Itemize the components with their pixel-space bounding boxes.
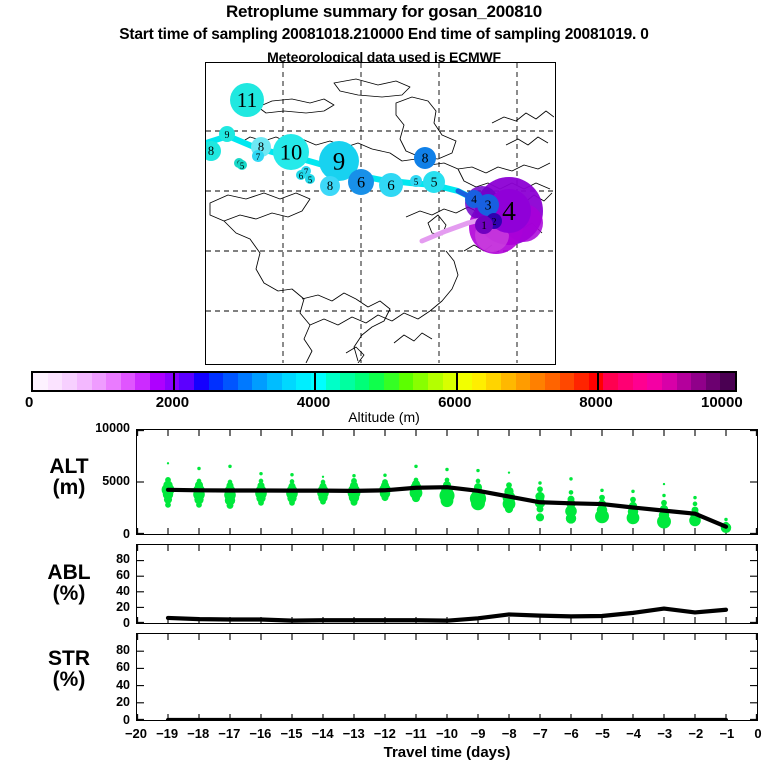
y-axis-tick: 20 [66,600,130,614]
map-day-marker-label: 5 [414,177,419,187]
x-axis-tick: −11 [399,726,433,741]
colorbar-swatch [33,373,48,390]
x-axis-tick: −6 [554,726,588,741]
colorbar-swatch [77,373,92,390]
colorbar-swatch [472,373,487,390]
x-axis-tick: −18 [181,726,215,741]
map-day-marker[interactable]: 5 [410,175,422,187]
colorbar-swatch [282,373,297,390]
axis-ticks [138,545,757,623]
retroplume-map[interactable]: 1110998888776666555544321 [205,62,556,365]
x-axis-tick: −3 [648,726,682,741]
colorbar-swatch [355,373,370,390]
map-day-marker[interactable]: 1 [475,216,493,234]
colorbar-swatch [326,373,341,390]
x-axis-tick: −1 [710,726,744,741]
x-axis-tick: 0 [741,726,768,741]
map-day-marker-label: 6 [387,178,395,194]
y-axis-tick: 80 [66,643,130,657]
map-day-marker[interactable]: 5 [423,171,445,193]
colorbar-swatch [121,373,136,390]
map-day-marker-label: 10 [280,140,303,165]
map-day-marker[interactable]: 9 [219,126,235,142]
map-day-marker-label: 8 [208,144,214,158]
colorbar-swatch [501,373,516,390]
map-day-marker[interactable]: 6 [296,170,306,181]
abl-line [168,609,726,621]
map-day-marker[interactable]: 6 [348,169,374,195]
altitude-colorbar[interactable] [31,371,737,392]
colorbar-swatch [238,373,253,390]
y-axis-tick: 0 [66,616,130,630]
colorbar-swatch [457,373,472,390]
abl-plot [137,545,757,623]
colorbar-swatch [135,373,150,390]
map-day-marker-label: 6 [357,173,365,191]
colorbar-swatch [530,373,545,390]
map-day-marker[interactable]: 7 [252,150,264,162]
map-canvas: 1110998888776666555544321 [206,63,554,363]
sampling-time-line: Start time of sampling 20081018.210000 E… [0,26,768,44]
y-axis-tick: 10000 [66,421,130,435]
colorbar-swatch [223,373,238,390]
colorbar-swatch [179,373,194,390]
y-axis-tick: 80 [66,552,130,566]
x-axis-tick: −2 [679,726,713,741]
map-day-marker-label: 6 [299,171,304,181]
alt-panel[interactable] [136,429,758,535]
map-day-marker[interactable]: 11 [230,83,264,117]
x-axis-tick: −19 [150,726,184,741]
y-axis-ticks [137,651,757,719]
colorbar-divider [314,373,316,390]
map-day-marker[interactable]: 6 [379,173,403,197]
colorbar-swatch [150,373,165,390]
y-axis-tick: 5000 [66,474,130,488]
map-day-marker-label: 9 [225,130,230,141]
colorbar-swatch [545,373,560,390]
colorbar-swatch [486,373,501,390]
map-day-marker-label: 5 [431,175,438,190]
alt-scatter [162,462,732,533]
map-day-marker-label: 5 [240,161,245,171]
colorbar-swatch [194,373,209,390]
map-day-marker-label: 7 [256,152,261,162]
colorbar-swatch [296,373,311,390]
y-axis-tick: 40 [66,678,130,692]
map-day-marker-label: 3 [485,198,492,213]
colorbar-swatch [428,373,443,390]
colorbar-swatch [399,373,414,390]
colorbar-swatch [706,373,721,390]
map-day-marker[interactable]: 8 [414,147,436,169]
x-axis-tick: −20 [119,726,153,741]
y-axis-tick: 60 [66,660,130,674]
map-day-marker[interactable]: 5 [305,174,315,185]
x-axis-tick: −9 [461,726,495,741]
map-day-marker-label: 4 [502,195,516,226]
alt-plot [137,430,757,534]
x-axis-tick: −12 [368,726,402,741]
page-title: Retroplume summary for gosan_200810 [0,2,768,22]
x-axis-tick: −17 [212,726,246,741]
colorbar-swatch [603,373,618,390]
colorbar-swatch [516,373,531,390]
map-day-marker-label: 4 [471,194,477,206]
y-axis-tick: 40 [66,584,130,598]
colorbar-swatch [92,373,107,390]
str-panel[interactable] [136,633,758,721]
colorbar-swatch [384,373,399,390]
x-axis-tick: −10 [430,726,464,741]
colorbar-swatch [691,373,706,390]
colorbar-swatch [647,373,662,390]
x-axis-tick: −15 [275,726,309,741]
map-day-markers: 1110998888776666555544321 [206,83,531,234]
map-day-marker-label: 8 [327,179,333,193]
colorbar-swatch [165,373,180,390]
axis-ticks [138,634,757,720]
y-axis-tick: 60 [66,568,130,582]
colorbar-swatch [574,373,589,390]
colorbar-divider [597,373,599,390]
colorbar-swatch [618,373,633,390]
colorbar-swatch [267,373,282,390]
x-axis-tick: −14 [306,726,340,741]
x-axis-tick: −16 [243,726,277,741]
colorbar-swatch [209,373,224,390]
colorbar-swatch [106,373,121,390]
map-day-marker-label: 11 [237,88,257,112]
y-axis-tick: 0 [66,713,130,727]
x-axis-tick: −13 [337,726,371,741]
str-plot [137,634,757,720]
colorbar-swatch [413,373,428,390]
map-day-marker[interactable]: 5 [237,160,247,171]
map-day-marker-label: 9 [333,148,346,175]
map-day-marker[interactable]: 8 [320,176,340,196]
abl-panel[interactable] [136,544,758,624]
map-day-marker[interactable]: 10 [273,134,309,170]
map-day-marker-label: 8 [422,151,429,166]
x-axis-tick: −8 [492,726,526,741]
y-axis-tick: 0 [66,527,130,541]
colorbar-swatch [62,373,77,390]
x-axis-tick: −5 [586,726,620,741]
colorbar-swatch [340,373,355,390]
x-axis-tick: −4 [617,726,651,741]
colorbar-swatch [560,373,575,390]
map-day-marker[interactable]: 3 [477,194,499,216]
colorbar-divider [456,373,458,390]
colorbar-swatch [252,373,267,390]
x-axis-tick: −7 [523,726,557,741]
y-axis-ticks [137,561,757,623]
colorbar-swatch [311,373,326,390]
map-day-marker-label: 5 [308,175,313,185]
x-axis-label: Travel time (days) [136,744,758,761]
colorbar-swatch [369,373,384,390]
colorbar-divider [173,373,175,390]
colorbar-swatch [633,373,648,390]
map-day-marker-label: 1 [481,220,487,232]
map-day-marker[interactable]: 8 [206,141,221,161]
colorbar-swatch [720,373,735,390]
colorbar-swatch [48,373,63,390]
colorbar-swatch [677,373,692,390]
colorbar-swatch [662,373,677,390]
y-axis-tick: 20 [66,695,130,709]
